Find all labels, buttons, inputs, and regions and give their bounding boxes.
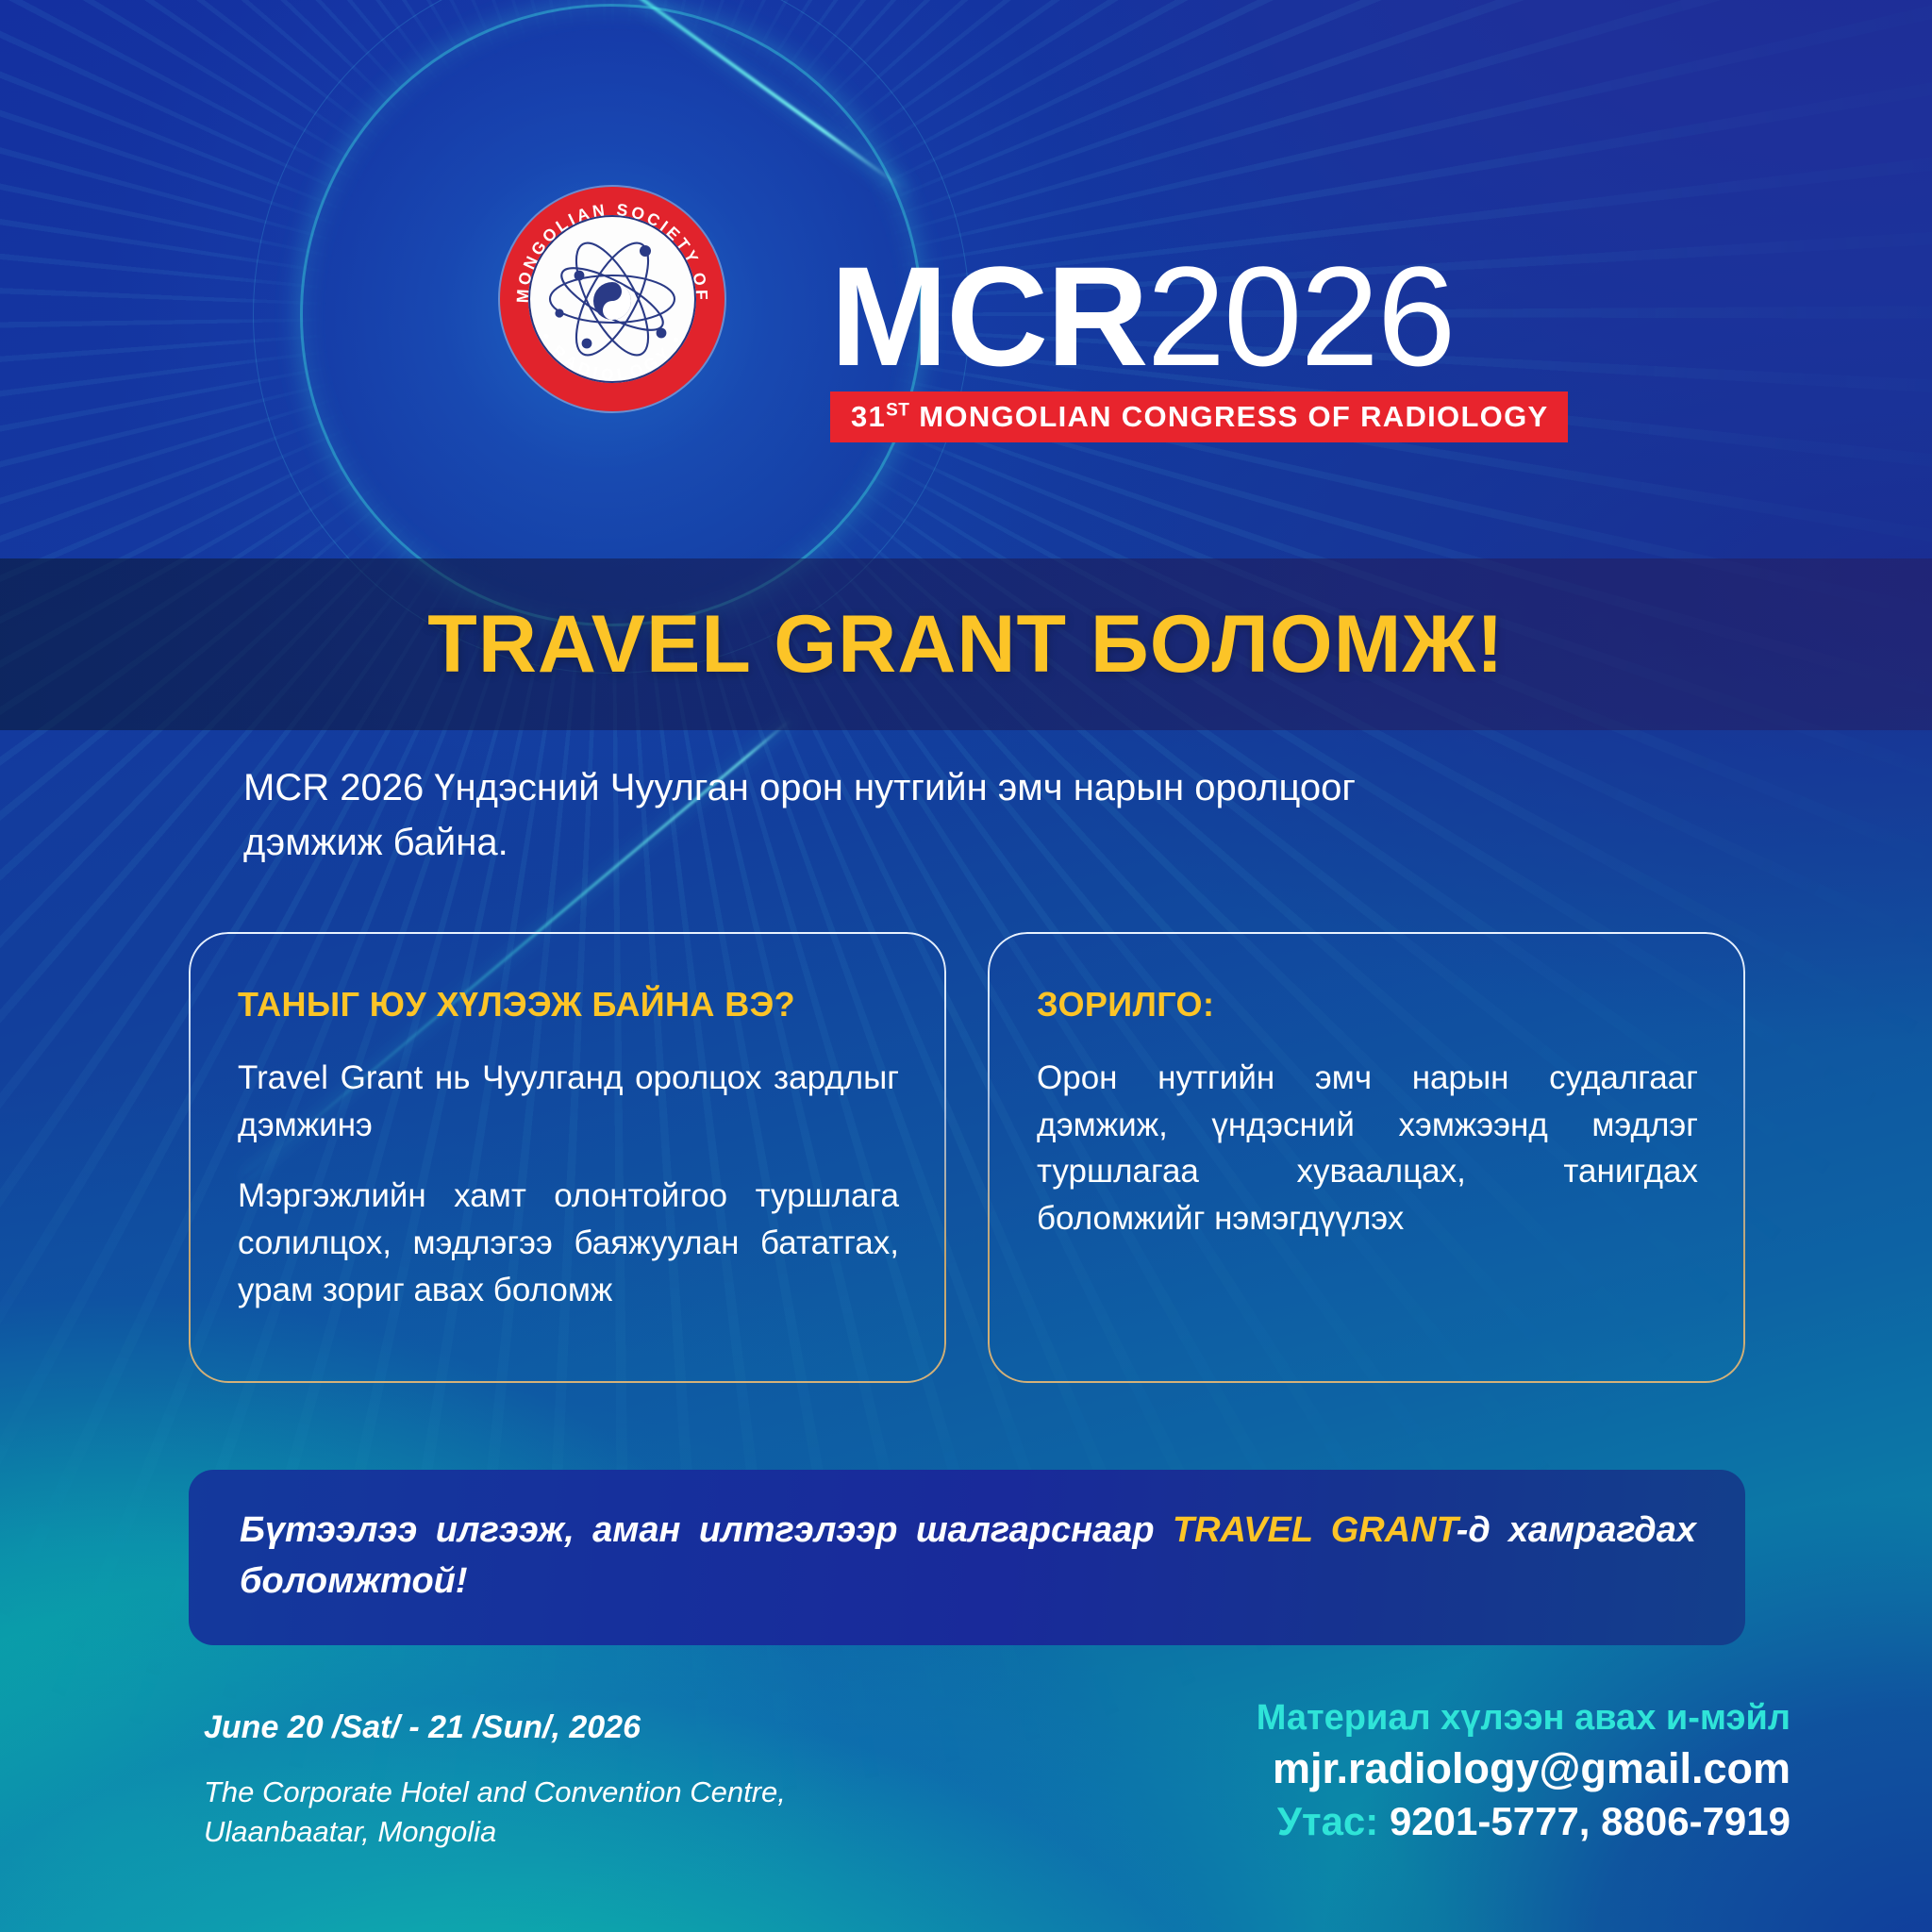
card-1-heading: ТАНЫГ ЮУ ХҮЛЭЭЖ БАЙНА ВЭ? bbox=[238, 985, 899, 1024]
poster-root: MONGOLIAN SOCIETY OF • RADIOLOGY • bbox=[0, 0, 1932, 1932]
subbanner-ordinal-suffix: ST bbox=[886, 401, 909, 421]
contact-email[interactable]: mjr.radiology@gmail.com bbox=[1257, 1744, 1790, 1793]
phone-numbers: 9201-5777, 8806-7919 bbox=[1378, 1799, 1790, 1843]
svg-text:• RADIOLOGY •: • RADIOLOGY • bbox=[537, 328, 688, 384]
header: MONGOLIAN SOCIETY OF • RADIOLOGY • bbox=[0, 0, 1932, 557]
congress-title-lockup: MCR2026 31ST MONGOLIAN CONGRESS OF RADIO… bbox=[830, 253, 1568, 442]
footer-contact-details: Материал хүлээн авах и-мэйл mjr.radiolog… bbox=[1257, 1698, 1790, 1844]
venue-line-1: The Corporate Hotel and Convention Centr… bbox=[204, 1773, 1053, 1812]
callout-text-before: Бүтээлээ илгээж, аман илтгэлээр шалгарсн… bbox=[240, 1510, 1173, 1550]
page-title: TRAVEL GRANT БОЛОМЖ! bbox=[427, 598, 1504, 691]
mcr-wordmark: MCR2026 bbox=[830, 253, 1568, 380]
mcr-text: MCR bbox=[830, 237, 1147, 395]
contact-label: Материал хүлээн авах и-мэйл bbox=[1257, 1698, 1790, 1739]
intro-line-1: MCR 2026 Үндэсний Чуулган орон нутгийн э… bbox=[243, 760, 1701, 815]
callout-highlight: TRAVEL GRANT bbox=[1173, 1510, 1457, 1550]
card-objective: ЗОРИЛГО: Орон нутгийн эмч нарын судалгаа… bbox=[988, 932, 1745, 1383]
phone-label: Утас: bbox=[1277, 1799, 1378, 1843]
congress-subbanner: 31ST MONGOLIAN CONGRESS OF RADIOLOGY bbox=[830, 391, 1568, 442]
seal-artwork: MONGOLIAN SOCIETY OF • RADIOLOGY • bbox=[500, 187, 724, 411]
card-1-paragraph-2: Мэргэжлийн хамт олонтойгоо туршлага соли… bbox=[238, 1173, 899, 1313]
event-venue: The Corporate Hotel and Convention Centr… bbox=[204, 1773, 1053, 1851]
card-1-paragraph-1: Travel Grant нь Чуулганд оролцох зардлыг… bbox=[238, 1055, 899, 1148]
intro-paragraph: MCR 2026 Үндэсний Чуулган орон нутгийн э… bbox=[243, 760, 1701, 870]
callout-banner: Бүтээлээ илгээж, аман илтгэлээр шалгарсн… bbox=[189, 1470, 1745, 1645]
card-2-heading: ЗОРИЛГО: bbox=[1037, 985, 1698, 1024]
event-date: June 20 /Sat/ - 21 /Sun/, 2026 bbox=[204, 1709, 1053, 1746]
footer-event-details: June 20 /Sat/ - 21 /Sun/, 2026 The Corpo… bbox=[204, 1709, 1053, 1851]
card-what-awaits-you: ТАНЫГ ЮУ ХҮЛЭЭЖ БАЙНА ВЭ? Travel Grant н… bbox=[189, 932, 946, 1383]
intro-line-2: дэмжиж байна. bbox=[243, 815, 1701, 870]
info-cards: ТАНЫГ ЮУ ХҮЛЭЭЖ БАЙНА ВЭ? Travel Grant н… bbox=[189, 932, 1745, 1383]
society-seal-icon: MONGOLIAN SOCIETY OF • RADIOLOGY • bbox=[500, 187, 724, 411]
subbanner-text: MONGOLIAN CONGRESS OF RADIOLOGY bbox=[909, 400, 1548, 433]
mcr-year: 2026 bbox=[1147, 237, 1455, 395]
title-band: TRAVEL GRANT БОЛОМЖ! bbox=[0, 558, 1932, 730]
callout-text: Бүтээлээ илгээж, аман илтгэлээр шалгарсн… bbox=[240, 1506, 1696, 1607]
subbanner-ordinal: 31 bbox=[851, 400, 886, 433]
venue-line-2: Ulaanbaatar, Mongolia bbox=[204, 1812, 1053, 1852]
card-2-paragraph-1: Орон нутгийн эмч нарын судалгааг дэмжиж,… bbox=[1037, 1055, 1698, 1242]
contact-phone[interactable]: Утас: 9201-5777, 8806-7919 bbox=[1257, 1799, 1790, 1844]
